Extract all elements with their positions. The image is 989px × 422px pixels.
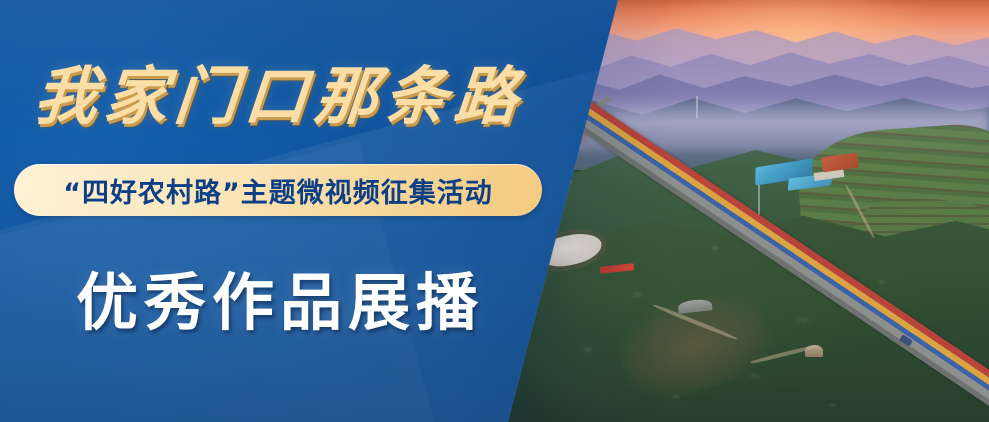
promo-banner: 我家门口那条路 “四好农村路”主题微视频征集活动 优秀作品展播 xyxy=(0,0,989,422)
banner-text-content: 我家门口那条路 “四好农村路”主题微视频征集活动 优秀作品展播 xyxy=(0,0,560,422)
power-pylon-2 xyxy=(696,96,698,118)
showcase-title: 优秀作品展播 xyxy=(0,252,560,342)
main-title: 我家门口那条路 xyxy=(0,46,564,137)
subtitle-text: “四好农村路”主题微视频征集活动 xyxy=(63,171,493,210)
subtitle-badge: “四好农村路”主题微视频征集活动 xyxy=(14,164,542,216)
